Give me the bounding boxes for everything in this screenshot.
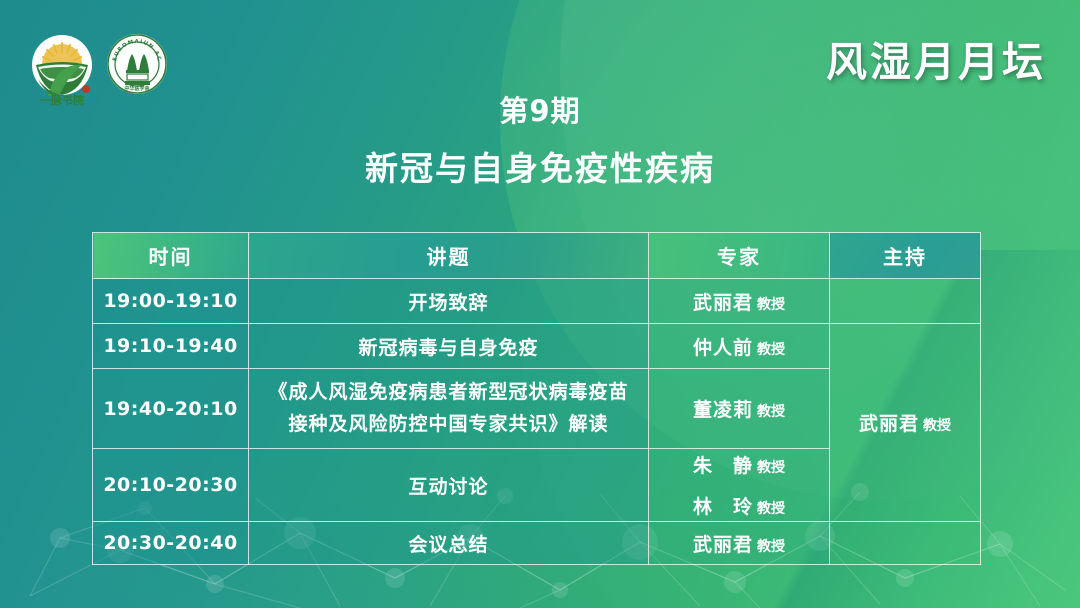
cell-speaker: 仲人前教授 <box>649 324 830 369</box>
cell-time: 20:30-20:40 <box>93 522 249 565</box>
host-title: 教授 <box>923 418 951 434</box>
cell-time: 19:10-19:40 <box>93 324 249 369</box>
euromaiun-academy-logo: EUROMAIUN ACADEMY 中华医学会 <box>106 33 168 95</box>
speaker-name: 武丽君 <box>693 534 753 556</box>
speaker-title: 教授 <box>757 539 785 555</box>
topic-line-1: 《成人风湿免疫病患者新型冠状病毒疫苗 <box>249 377 648 408</box>
cell-topic: 《成人风湿免疫病患者新型冠状病毒疫苗 接种及风险防控中国专家共识》解读 <box>249 369 649 449</box>
speaker-name: 仲人前 <box>693 337 753 359</box>
cell-topic: 开场致辞 <box>249 279 649 324</box>
brand-title: 风湿月月坛 <box>826 28 1046 88</box>
agenda-table: 时间 讲题 专家 主持 19:00-19:10 开场致辞 武丽君教授 19:10… <box>92 232 981 565</box>
poster-root: 一脉书院 EUROMAIUN ACADEMY 中华医学会 风湿月月坛 第9期 <box>0 0 1080 608</box>
cell-host-empty-bottom <box>830 522 981 565</box>
center-title-block: 第9期 新冠与自身免疫性疾病 <box>0 96 1080 190</box>
cell-time: 20:10-20:30 <box>93 449 249 522</box>
table-row: 19:10-19:40 新冠病毒与自身免疫 仲人前教授 武丽君教授 <box>93 324 981 369</box>
speaker-name: 董凌莉 <box>693 399 753 421</box>
cell-topic: 会议总结 <box>249 522 649 565</box>
speaker-title: 教授 <box>757 342 785 358</box>
speaker-title: 教授 <box>757 460 785 476</box>
speaker-title: 教授 <box>757 404 785 420</box>
cell-host-merged: 武丽君教授 <box>830 324 981 522</box>
column-header-time: 时间 <box>93 233 249 279</box>
cell-speaker: 董凌莉教授 <box>649 369 830 449</box>
cell-topic: 新冠病毒与自身免疫 <box>249 324 649 369</box>
cell-time: 19:00-19:10 <box>93 279 249 324</box>
poster-topic: 新冠与自身免疫性疾病 <box>0 142 1080 190</box>
speaker-name: 武丽君 <box>693 292 753 314</box>
topic-line-2: 接种及风险防控中国专家共识》解读 <box>249 409 648 440</box>
cell-host-empty-top <box>830 279 981 324</box>
host-name: 武丽君 <box>859 413 919 435</box>
cell-speaker: 武丽君教授 <box>649 522 830 565</box>
cell-topic: 互动讨论 <box>249 449 649 522</box>
speaker-title: 教授 <box>757 501 785 517</box>
agenda-header-row: 时间 讲题 专家 主持 <box>93 233 981 279</box>
table-row: 20:30-20:40 会议总结 武丽君教授 <box>93 522 981 565</box>
cell-speaker: 武丽君教授 <box>649 279 830 324</box>
cell-time: 19:40-20:10 <box>93 369 249 449</box>
cell-speaker: 朱 静教授 林 玲教授 <box>649 449 830 522</box>
agenda-table-wrap: 时间 讲题 专家 主持 19:00-19:10 开场致辞 武丽君教授 19:10… <box>92 232 980 563</box>
speaker-title: 教授 <box>757 297 785 313</box>
speaker-name: 朱 静 <box>693 455 753 477</box>
issue-number: 第9期 <box>0 96 1080 128</box>
column-header-speaker: 专家 <box>649 233 830 279</box>
svg-text:中华医学会: 中华医学会 <box>124 85 149 92</box>
speaker-name: 林 玲 <box>693 496 753 518</box>
column-header-topic: 讲题 <box>249 233 649 279</box>
table-row: 19:00-19:10 开场致辞 武丽君教授 <box>93 279 981 324</box>
column-header-host: 主持 <box>830 233 981 279</box>
